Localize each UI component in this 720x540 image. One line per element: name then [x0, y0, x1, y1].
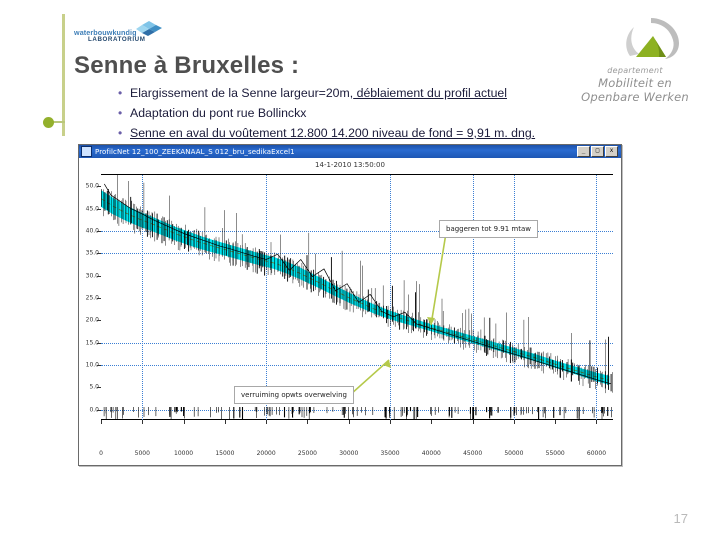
list-item: • Adaptation du pont rue Bollinckx [118, 105, 618, 121]
decorative-bullet-dot [43, 117, 54, 128]
x-tick-label: 10000 [174, 450, 193, 457]
measurement-sticks [101, 175, 612, 393]
x-tick-label: 25000 [298, 450, 317, 457]
annotation-baggeren: baggeren tot 9.91 mtaw [439, 220, 538, 238]
list-item: • Senne en aval du voûtement 12.800 14.2… [118, 125, 618, 141]
bullet-text-plain: Elargissement de la Senne largeur=20m, [130, 86, 353, 100]
bullet-text-underlined: Senne en aval du voûtement 12.800 14.200… [130, 126, 535, 140]
page-number: 17 [674, 511, 688, 526]
window-titlebar[interactable]: ProfilcNet 12_100_ZEEKANAAL_S 012_bru_se… [79, 145, 621, 158]
x-tick-label: 30000 [339, 450, 358, 457]
x-tick-label: 35000 [380, 450, 399, 457]
waterbouwkundig-laboratorium-logo: waterbouwkundig LABORATORIUM [74, 20, 166, 48]
window-content: 14-1-2010 13:50:00 50.045.040.035.030.02… [79, 158, 621, 465]
sample-density-ticks [104, 407, 611, 420]
bullet-dot-icon: • [118, 85, 130, 101]
x-tick-label: 0 [99, 450, 103, 457]
bullet-list: • Elargissement de la Senne largeur=20m,… [118, 85, 618, 145]
page-title: Senne à Bruxelles : [74, 52, 299, 80]
bullet-dot-icon: • [118, 105, 130, 121]
bullet-text-plain: Adaptation du pont rue Bollinckx [130, 106, 306, 120]
x-tick-label: 60000 [587, 450, 606, 457]
maximize-button[interactable]: □ [591, 146, 604, 157]
bullet-dot-icon: • [118, 125, 130, 141]
profile-app-icon [81, 146, 92, 157]
window-title: ProfilcNet 12_100_ZEEKANAAL_S 012_bru_se… [95, 148, 577, 156]
profile-series-svg [101, 175, 613, 421]
list-item: • Elargissement de la Senne largeur=20m,… [118, 85, 618, 101]
minimize-button[interactable]: _ [577, 146, 590, 157]
logo-left-word-bottom: LABORATORIUM [88, 36, 146, 43]
x-tick-label: 15000 [215, 450, 234, 457]
decorative-rail-vertical [62, 14, 65, 136]
x-tick-label: 5000 [135, 450, 150, 457]
x-tick-label: 55000 [546, 450, 565, 457]
x-tick-label: 50000 [504, 450, 523, 457]
close-button[interactable]: x [605, 146, 618, 157]
bullet-text-underlined: déblaiement du profil actuel [353, 86, 507, 100]
chart-title-timestamp: 14-1-2010 13:50:00 [79, 161, 621, 169]
x-tick-label: 20000 [257, 450, 276, 457]
x-tick-label: 40000 [422, 450, 441, 457]
profile-chart-plot[interactable]: 50.045.040.035.030.025.020.015.010.05.00… [101, 174, 613, 442]
logo-right-departement: departement [570, 66, 700, 75]
triangle-swoosh-icon [620, 16, 682, 62]
x-tick-label: 45000 [463, 450, 482, 457]
annotation-verruiming: verruiming opwts overwelving [234, 386, 354, 404]
embedded-application-window[interactable]: ProfilcNet 12_100_ZEEKANAAL_S 012_bru_se… [78, 144, 622, 466]
window-controls[interactable]: _ □ x [577, 146, 618, 157]
